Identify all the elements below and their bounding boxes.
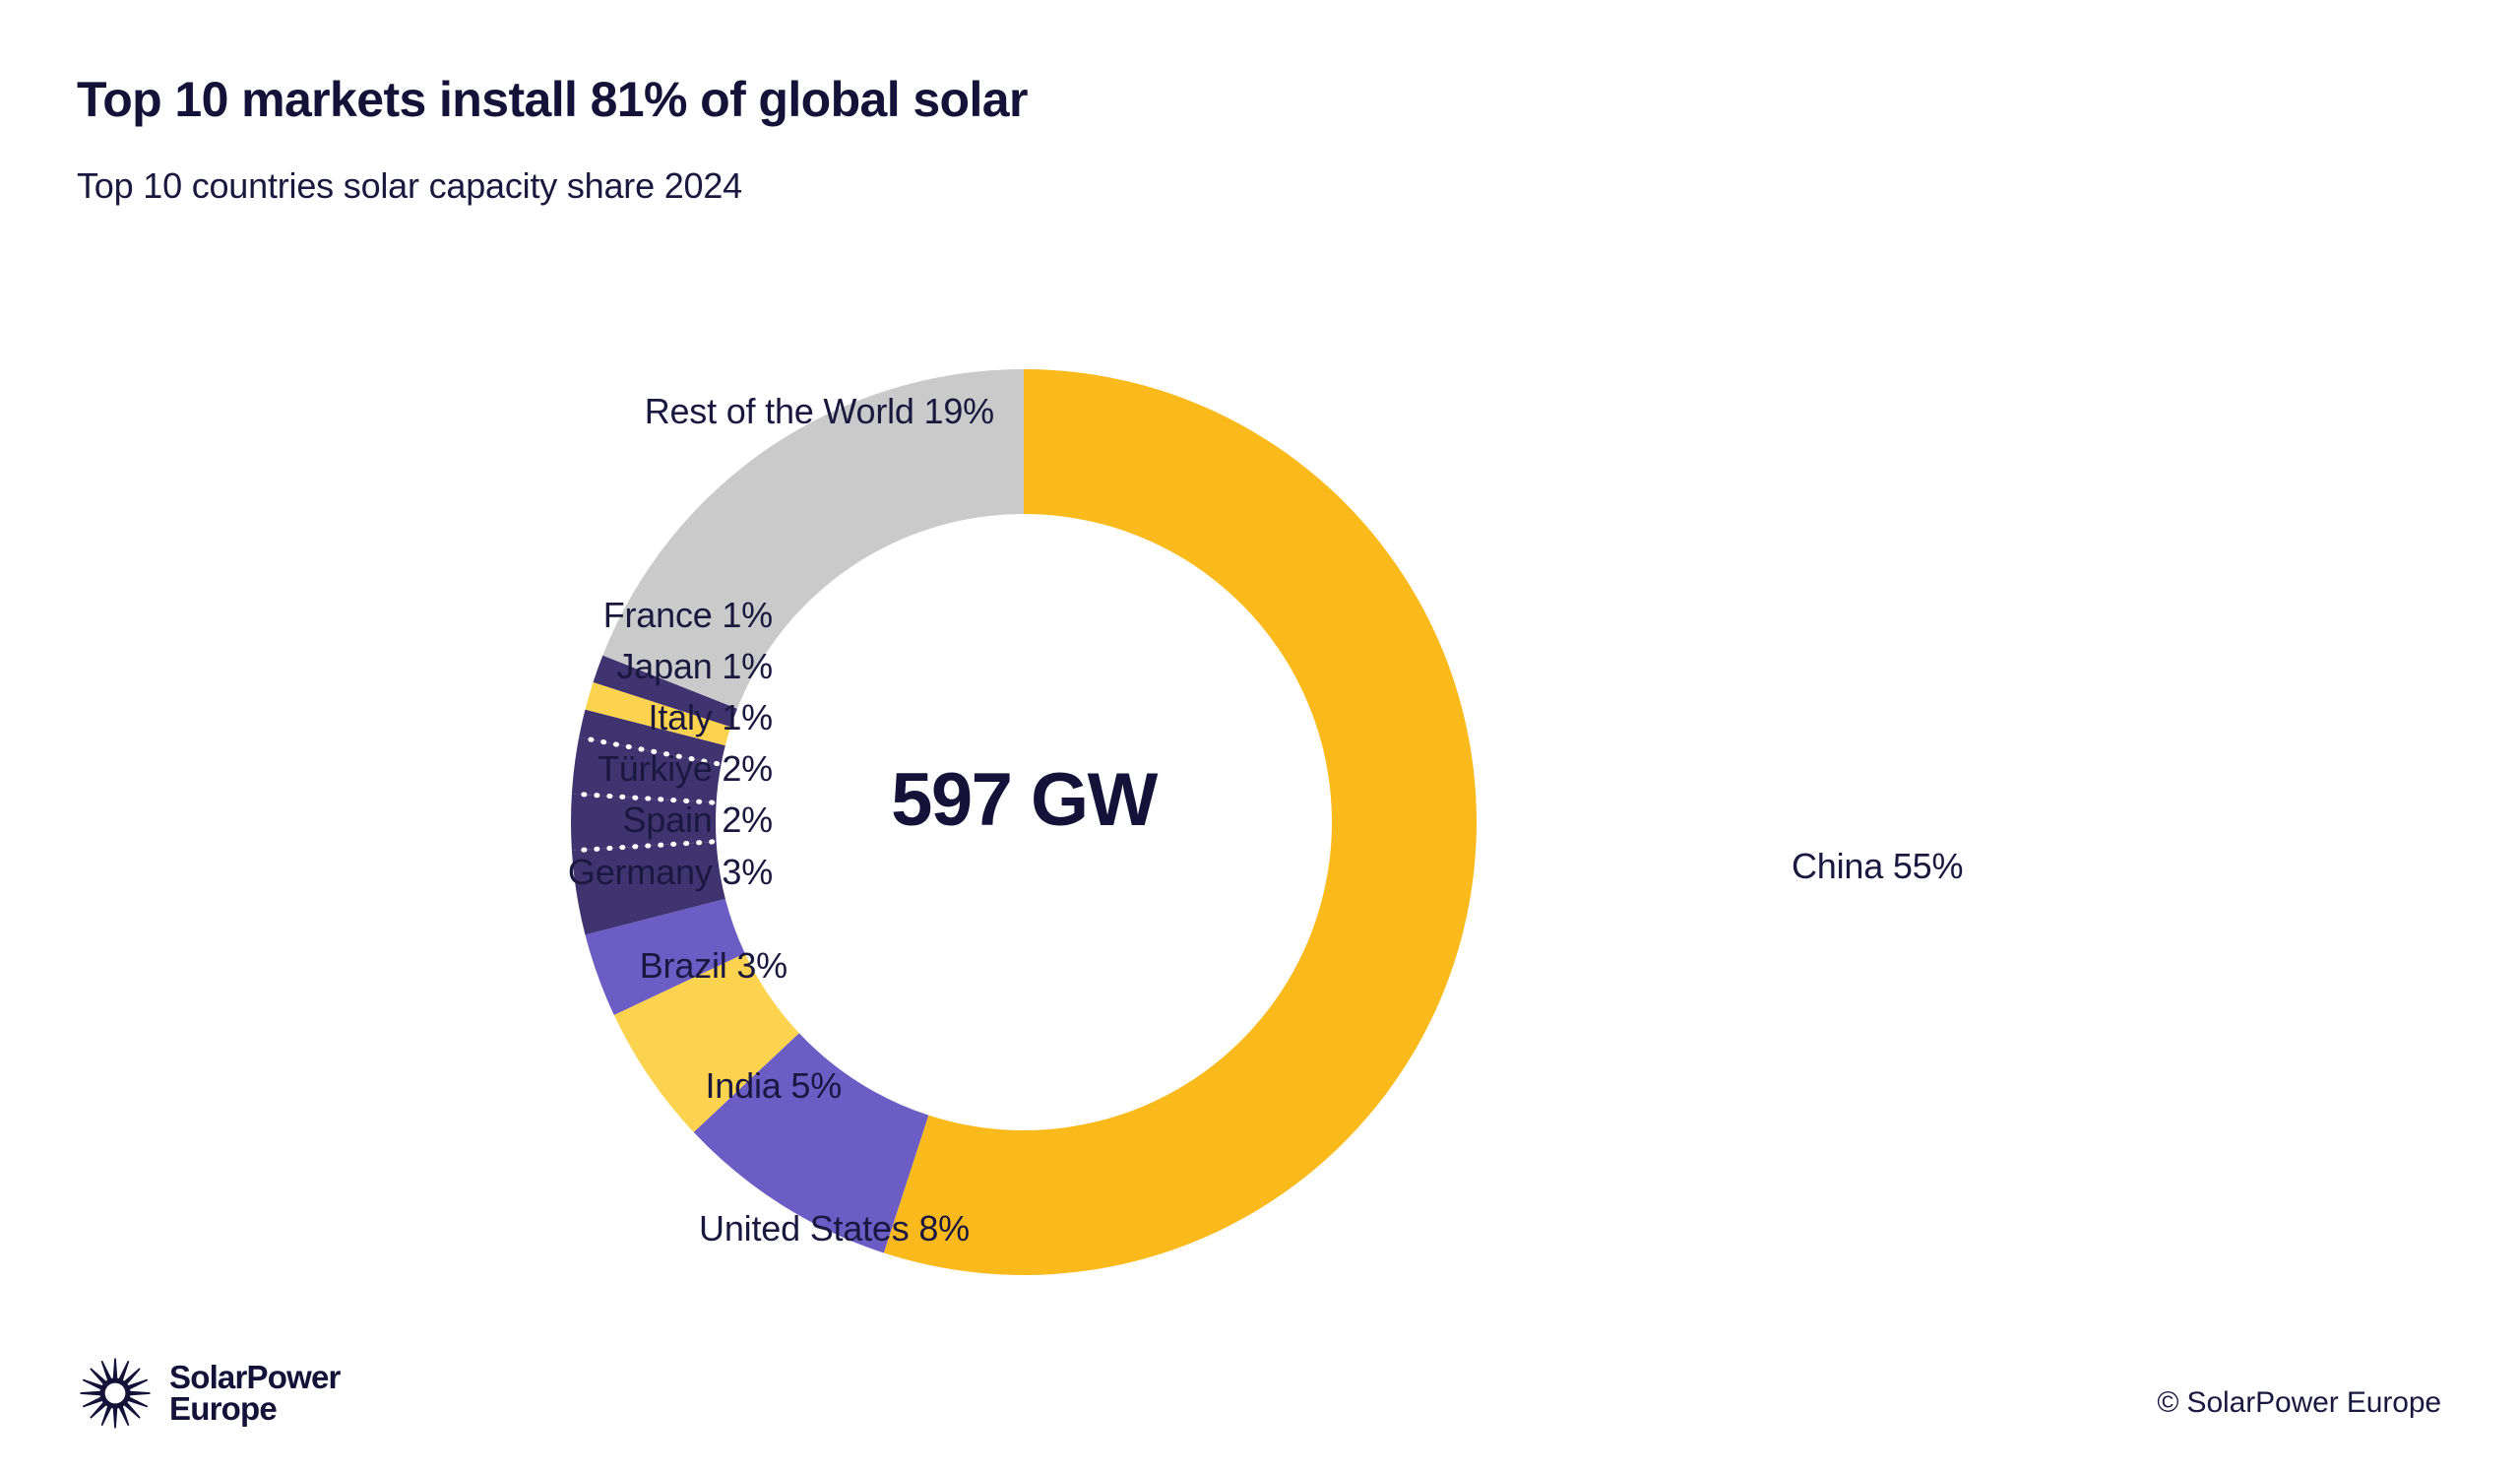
donut-center-value: 597 GW [827, 763, 1221, 838]
donut-slice-label: Germany 3% [568, 855, 773, 890]
copyright-notice: © SolarPower Europe [2157, 1386, 2441, 1420]
donut-chart: 597 GW China 55%United States 8%India 5%… [0, 0, 2520, 1472]
brand-logo: SolarPower Europe [79, 1357, 341, 1430]
donut-slice-label: India 5% [706, 1068, 843, 1104]
donut-slice-label: Türkiye 2% [598, 751, 773, 787]
donut-slice-label: Italy 1% [649, 700, 773, 736]
donut-slice-label: Spain 2% [622, 802, 773, 838]
donut-slice-label: United States 8% [699, 1211, 970, 1247]
sunburst-icon [79, 1357, 152, 1430]
brand-wordmark: SolarPower Europe [169, 1362, 341, 1424]
donut-slice-label: Brazil 3% [640, 948, 787, 984]
donut-slice-label: China 55% [1792, 849, 1963, 884]
donut-slice-label: Japan 1% [616, 649, 773, 684]
donut-slice-label: Rest of the World 19% [645, 394, 994, 429]
donut-slice-label: France 1% [603, 598, 773, 633]
